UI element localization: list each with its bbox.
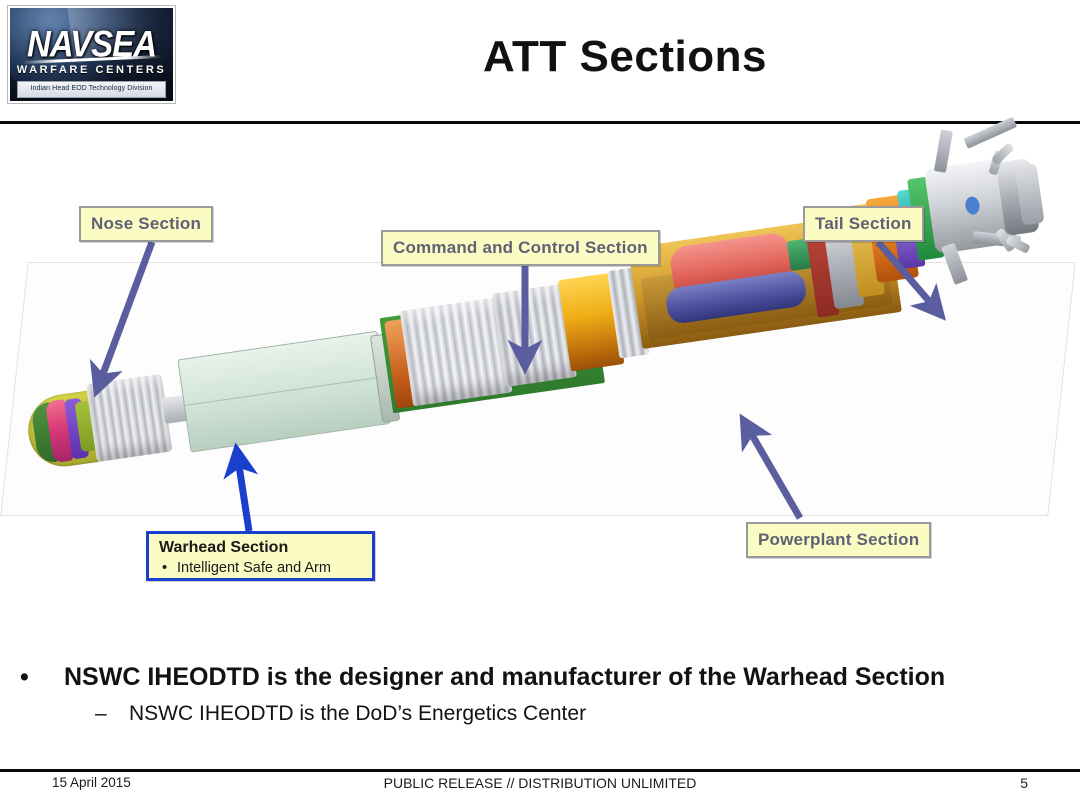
callout-tail-section[interactable]: Tail Section: [803, 206, 924, 242]
warhead-callout-title: Warhead Section: [149, 538, 372, 558]
callout-warhead-section[interactable]: Warhead Section Intelligent Safe and Arm: [146, 531, 375, 581]
bullet-marker: •: [20, 660, 64, 694]
torpedo-cutaway-image: [22, 282, 1062, 497]
callout-nose-section[interactable]: Nose Section: [79, 206, 213, 242]
nose-chrome-barrel: [86, 374, 172, 462]
logo-subtitle: WARFARE CENTERS: [10, 64, 173, 76]
warhead-callout-bullet: Intelligent Safe and Arm: [149, 558, 372, 578]
body-bullet-secondary-text: NSWC IHEODTD is the DoD’s Energetics Cen…: [129, 702, 586, 725]
callout-command-and-control-section[interactable]: Command and Control Section: [381, 230, 660, 266]
slide: NAVSEA WARFARE CENTERS Indian Head EOD T…: [0, 0, 1080, 803]
footer-page-number: 5: [1020, 775, 1028, 791]
body-bullet-primary-text: NSWC IHEODTD is the designer and manufac…: [64, 663, 945, 691]
callout-powerplant-section[interactable]: Powerplant Section: [746, 522, 931, 558]
footer-divider: [0, 769, 1080, 772]
page-title: ATT Sections: [180, 26, 1070, 88]
footer-notice: PUBLIC RELEASE // DISTRIBUTION UNLIMITED: [0, 775, 1080, 791]
sub-bullet-marker: –: [95, 699, 129, 729]
body-bullet-secondary: –NSWC IHEODTD is the DoD’s Energetics Ce…: [95, 699, 1055, 729]
navsea-logo: NAVSEA WARFARE CENTERS Indian Head EOD T…: [8, 6, 175, 103]
logo-division-text: Indian Head EOD Technology Division: [10, 82, 173, 95]
torpedo-body: [7, 135, 1067, 496]
header-divider: [0, 121, 1080, 124]
body-bullet-primary: •NSWC IHEODTD is the designer and manufa…: [20, 660, 1060, 694]
